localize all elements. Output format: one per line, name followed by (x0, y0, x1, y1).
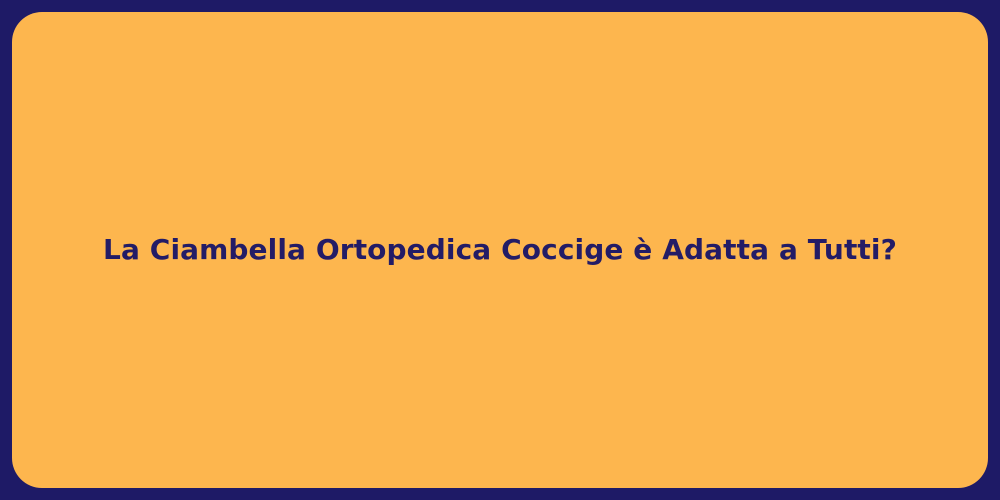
card-panel: La Ciambella Ortopedica Coccige è Adatta… (12, 12, 988, 488)
card-frame: La Ciambella Ortopedica Coccige è Adatta… (0, 0, 1000, 500)
page-title: La Ciambella Ortopedica Coccige è Adatta… (79, 231, 921, 269)
